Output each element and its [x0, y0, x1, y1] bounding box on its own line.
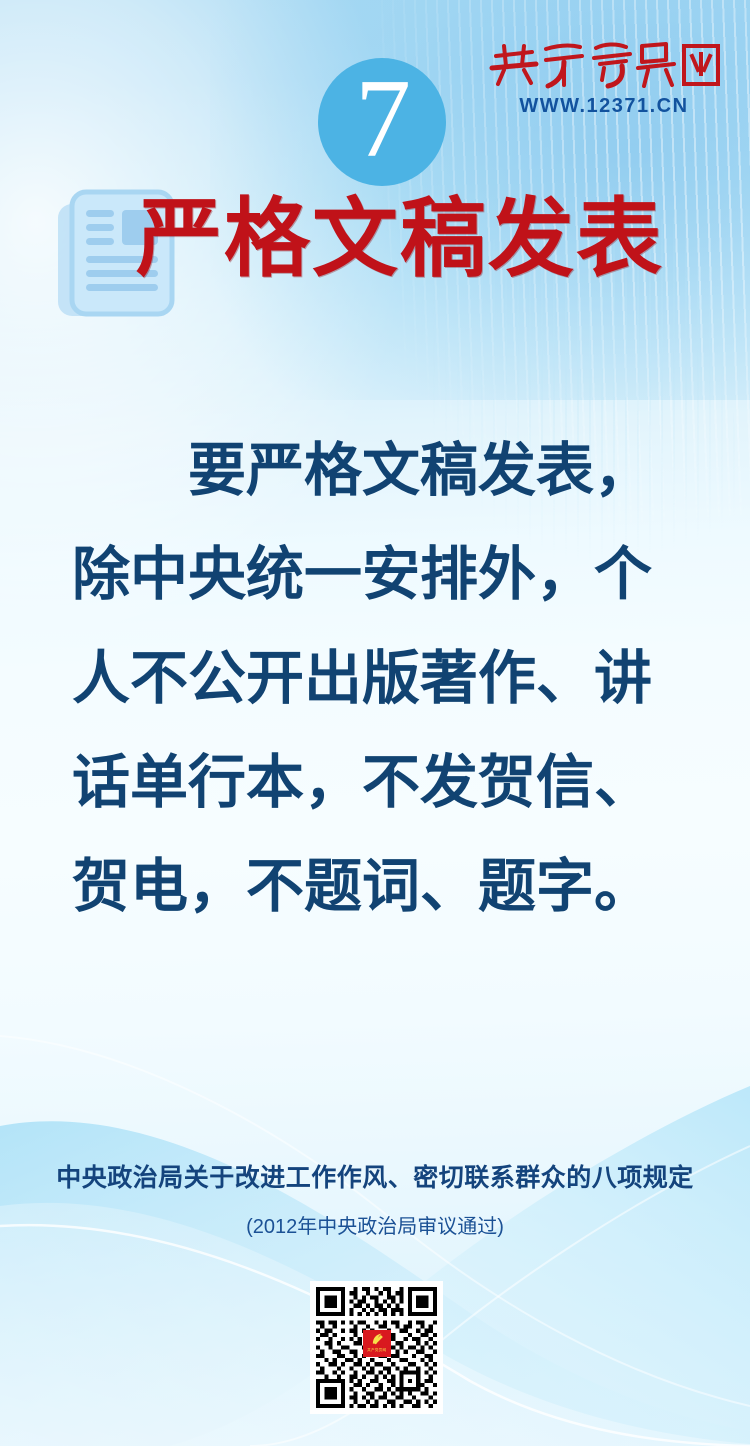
hammer-and-sickle-icon — [369, 1331, 386, 1347]
poster-root: 7 — [0, 0, 750, 1446]
body-paragraph: 要严格文稿发表，除中央统一安排外，个人不公开出版著作、讲话单行本，不发贺信、贺电… — [72, 418, 678, 938]
step-number-badge: 7 — [318, 58, 446, 186]
brand-block: WWW.12371.CN — [484, 38, 724, 118]
step-number-text: 7 — [355, 63, 409, 175]
page-title: 严格文稿发表 — [136, 196, 664, 282]
footer-regulation-subtitle: (2012年中央政治局审议通过) — [0, 1210, 750, 1239]
qr-emblem-label: 共产党员网 — [367, 1347, 386, 1352]
footer-regulation-title: 中央政治局关于改进工作作风、密切联系群众的八项规定 — [0, 1158, 750, 1194]
qr-center-party-emblem: 共产党员网 — [363, 1330, 391, 1357]
qr-code[interactable]: 共产党员网 — [310, 1281, 443, 1414]
brand-url-text: WWW.12371.CN — [484, 95, 724, 118]
brand-logo-calligraphy-icon — [484, 38, 724, 92]
